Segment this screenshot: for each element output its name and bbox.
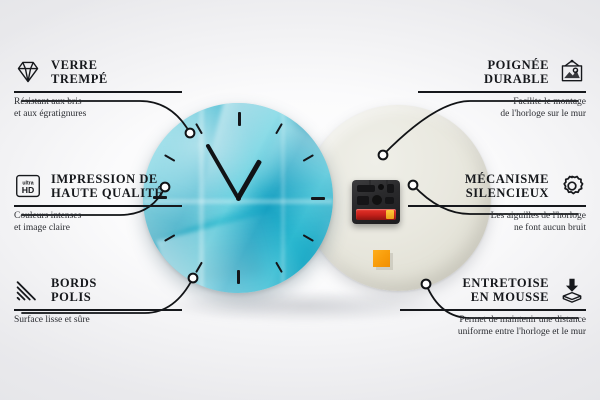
clock-hands-hub (236, 196, 241, 201)
mechanism-detail (378, 184, 384, 190)
feature-desc: et image claire (14, 223, 182, 235)
feature-desc: Les aiguilles de l'horloge (408, 211, 586, 223)
feature-desc: uniforme entre l'horloge et le mur (400, 327, 586, 339)
feature-title: SILENCIEUX (465, 186, 549, 200)
feature-desc: ne font aucun bruit (408, 223, 586, 235)
feature-title: EN MOUSSE (462, 290, 549, 304)
diamond-icon (14, 59, 42, 85)
feature-title: BORDS (51, 276, 97, 290)
foam-spacer-icon (558, 277, 586, 303)
feature-title: DURABLE (484, 72, 549, 86)
feature-mecanisme-silencieux[interactable]: MÉCANISME SILENCIEUX Les aiguilles de l'… (408, 172, 586, 234)
feature-desc: Facilite le montage (418, 97, 586, 109)
battery-positive-terminal (386, 210, 394, 219)
feature-title: TREMPÉ (51, 72, 108, 86)
divider (408, 205, 586, 207)
feature-entretoise-en-mousse[interactable]: ENTRETOISE EN MOUSSE Permet de maintenir… (400, 276, 586, 338)
feature-title: MÉCANISME (465, 172, 549, 186)
feature-title: POLIS (51, 290, 97, 304)
polished-edges-icon (14, 277, 42, 303)
divider (14, 91, 182, 93)
feature-desc: Couleurs intenses (14, 211, 182, 223)
mechanism-detail (357, 196, 369, 205)
quartz-movement-mechanism (352, 180, 400, 224)
feature-desc: de l'horloge sur le mur (418, 109, 586, 121)
gear-icon (558, 173, 586, 199)
mechanism-detail (372, 195, 382, 205)
feature-desc: Surface lisse et sûre (14, 315, 182, 327)
mechanism-detail (385, 197, 394, 204)
feature-desc: Résistant aux bris (14, 97, 182, 109)
feature-title: ENTRETOISE (462, 276, 549, 290)
feature-desc: Permet de maintenir une distance (400, 315, 586, 327)
divider (418, 91, 586, 93)
minute-hand (205, 143, 239, 199)
ultra-hd-icon: ultra HD (14, 173, 42, 199)
divider (400, 309, 586, 311)
feature-bords-polis[interactable]: BORDS POLIS Surface lisse et sûre (14, 276, 182, 327)
mechanism-detail (387, 184, 394, 193)
hanging-frame-icon (558, 59, 586, 85)
feature-impression-haute-qualite[interactable]: ultra HD IMPRESSION DE HAUTE QUALITÉ Cou… (14, 172, 182, 234)
feature-desc: et aux égratignures (14, 109, 182, 121)
feature-title: POIGNÉE (484, 58, 549, 72)
svg-text:HD: HD (22, 185, 35, 195)
feature-verre-trempe[interactable]: VERRE TREMPÉ Résistant aux bris et aux é… (14, 58, 182, 120)
feature-poignee-durable[interactable]: POIGNÉE DURABLE Facilite le montage de l… (418, 58, 586, 120)
divider (14, 205, 182, 207)
divider (14, 309, 182, 311)
foam-spacer (373, 250, 390, 267)
mechanism-detail (357, 185, 375, 192)
feature-title: HAUTE QUALITÉ (51, 186, 163, 200)
feature-title: IMPRESSION DE (51, 172, 163, 186)
feature-title: VERRE (51, 58, 108, 72)
battery (356, 209, 396, 220)
infographic-canvas: VERRE TREMPÉ Résistant aux bris et aux é… (0, 0, 600, 400)
